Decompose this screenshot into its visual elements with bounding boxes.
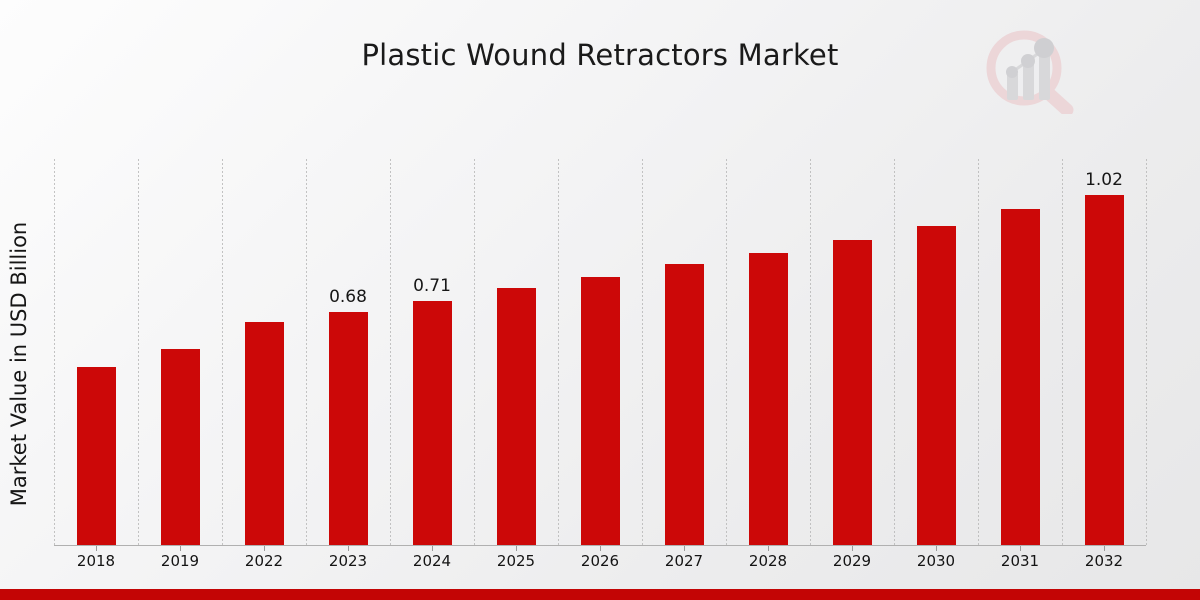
x-axis-label-2031: 2031 [980, 552, 1060, 570]
bar-value-label-2023: 0.68 [303, 287, 393, 307]
bar-2018[interactable] [77, 367, 116, 545]
bar-2026[interactable] [581, 277, 620, 545]
x-axis-tick [516, 546, 517, 551]
x-axis-tick [96, 546, 97, 551]
x-axis-label-2024: 2024 [392, 552, 472, 570]
x-axis-label-2018: 2018 [56, 552, 136, 570]
footer-accent-strip [0, 589, 1200, 600]
x-axis-label-2019: 2019 [140, 552, 220, 570]
x-axis-label-2022: 2022 [224, 552, 304, 570]
magnifier-bar-chart-logo [983, 28, 1075, 114]
gridline [222, 159, 223, 545]
x-axis-label-2025: 2025 [476, 552, 556, 570]
bar-2019[interactable] [161, 349, 200, 545]
x-axis-tick [768, 546, 769, 551]
x-axis-label-2023: 2023 [308, 552, 388, 570]
bar-value-label-2024: 0.71 [387, 276, 477, 296]
gridline [810, 159, 811, 545]
bar-2028[interactable] [749, 253, 788, 545]
gridline [390, 159, 391, 545]
gridline [558, 159, 559, 545]
gridline [138, 159, 139, 545]
x-axis-tick [180, 546, 181, 551]
gridline [1146, 159, 1147, 545]
gridline [894, 159, 895, 545]
x-axis-tick [852, 546, 853, 551]
gridline [642, 159, 643, 545]
gridline [726, 159, 727, 545]
bar-2029[interactable] [833, 240, 872, 545]
x-axis-tick [684, 546, 685, 551]
bar-value-label-2032: 1.02 [1059, 170, 1149, 190]
gridline [54, 159, 55, 545]
y-axis-label: Market Value in USD Billion [7, 44, 31, 600]
gridline [978, 159, 979, 545]
bar-2022[interactable] [245, 322, 284, 545]
bar-2027[interactable] [665, 264, 704, 545]
bar-2025[interactable] [497, 288, 536, 545]
x-axis-label-2026: 2026 [560, 552, 640, 570]
x-axis-tick [1020, 546, 1021, 551]
x-axis-label-2030: 2030 [896, 552, 976, 570]
x-axis-label-2028: 2028 [728, 552, 808, 570]
bar-2032[interactable] [1085, 195, 1124, 545]
x-axis-label-2027: 2027 [644, 552, 724, 570]
x-axis-label-2029: 2029 [812, 552, 892, 570]
chart-figure: Plastic Wound Retractors Market Market V… [0, 0, 1200, 600]
x-axis-tick [348, 546, 349, 551]
x-axis-label-2032: 2032 [1064, 552, 1144, 570]
gridline [306, 159, 307, 545]
x-axis-tick [1104, 546, 1105, 551]
x-axis-tick [936, 546, 937, 551]
x-axis-tick [600, 546, 601, 551]
bar-2024[interactable] [413, 301, 452, 545]
plot-area [54, 159, 1146, 545]
bar-2031[interactable] [1001, 209, 1040, 545]
x-axis-tick [432, 546, 433, 551]
bar-2023[interactable] [329, 312, 368, 545]
gridline [474, 159, 475, 545]
bar-2030[interactable] [917, 226, 956, 545]
gridline [1062, 159, 1063, 545]
x-axis-tick [264, 546, 265, 551]
